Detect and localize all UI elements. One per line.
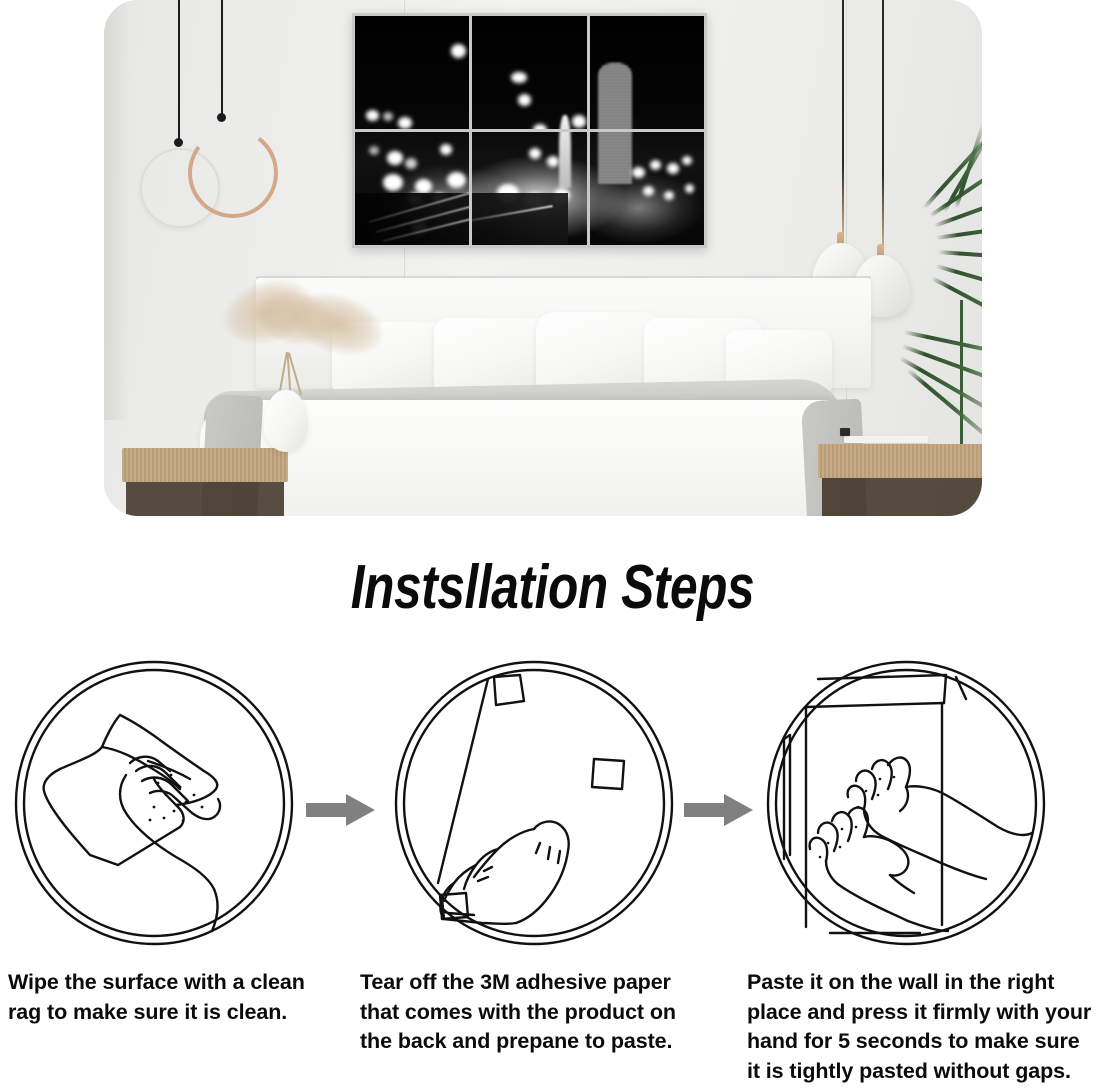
nightstand-left-base: [126, 482, 284, 516]
page-title: Instsllation Steps: [111, 552, 995, 623]
art-panel-2: [472, 16, 586, 129]
step-3: [760, 655, 1052, 950]
art-panel-6: [590, 132, 704, 245]
pendant-lamp-cord-right: [882, 0, 884, 246]
art-panel-4: [355, 132, 469, 245]
step-3-caption: Paste it on the wall in the right place …: [747, 968, 1105, 1086]
art-panel-3: [590, 16, 704, 129]
ring-knob-right: [217, 113, 226, 122]
press-panel-on-wall-icon: [760, 655, 1052, 950]
wipe-surface-with-cloth-icon: [8, 655, 300, 950]
arrow-step-1-to-2: [306, 793, 376, 827]
city-night-wall-art: [352, 13, 707, 248]
nightstand-right-top: [818, 444, 982, 478]
ring-cord-left: [178, 0, 180, 142]
step-2: [388, 655, 680, 950]
step-1-caption: Wipe the surface with a clean rag to mak…: [8, 968, 338, 1027]
pendant-lamp-cord-left: [842, 0, 844, 234]
step-1: [8, 655, 300, 950]
step-2-caption: Tear off the 3M adhesive paper that come…: [360, 968, 706, 1057]
ring-cord-right: [221, 0, 223, 117]
book-accent: [840, 428, 850, 436]
wall-left-edge: [104, 0, 130, 420]
arrow-step-2-to-3: [684, 793, 754, 827]
art-panel-5: [472, 132, 586, 245]
bedroom-room-scene-photo: [104, 0, 982, 516]
nightstand-right-base: [822, 478, 982, 516]
peel-adhesive-backing-icon: [388, 655, 680, 950]
art-panel-1: [355, 16, 469, 129]
book-stack: [844, 436, 928, 443]
white-vase: [264, 390, 308, 452]
nightstand-left-top: [122, 448, 288, 482]
ring-knob-left: [174, 138, 183, 147]
